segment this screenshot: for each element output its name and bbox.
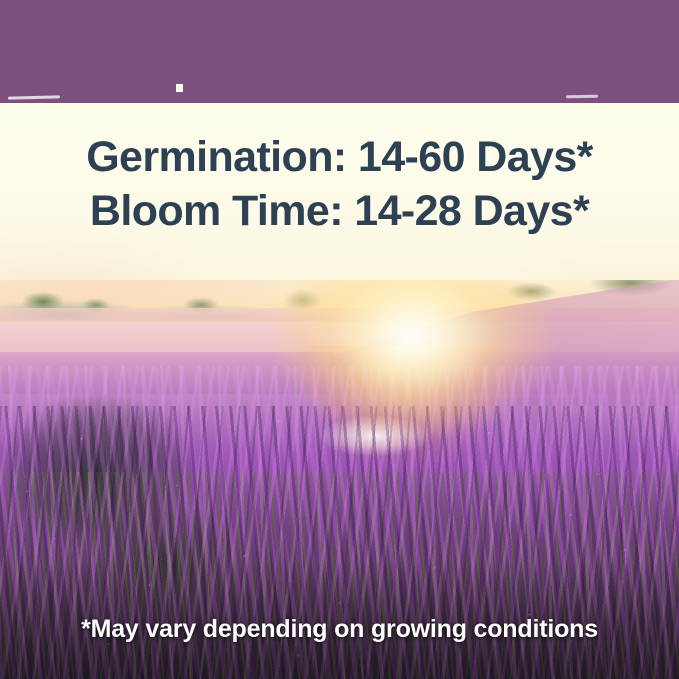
footer-disclaimer: *May vary depending on growing condition… xyxy=(0,613,679,645)
headline-line-bloom-time: Bloom Time: 14-28 Days* xyxy=(0,184,679,238)
banner-edge-nick xyxy=(176,84,183,92)
banner-edge-highlight-right xyxy=(566,95,598,99)
headline: Germination: 14-60 Days* Bloom Time: 14-… xyxy=(0,130,679,238)
product-infographic: Germination: 14-60 Days* Bloom Time: 14-… xyxy=(0,0,679,679)
header-banner xyxy=(0,0,679,103)
headline-line-germination: Germination: 14-60 Days* xyxy=(0,130,679,184)
